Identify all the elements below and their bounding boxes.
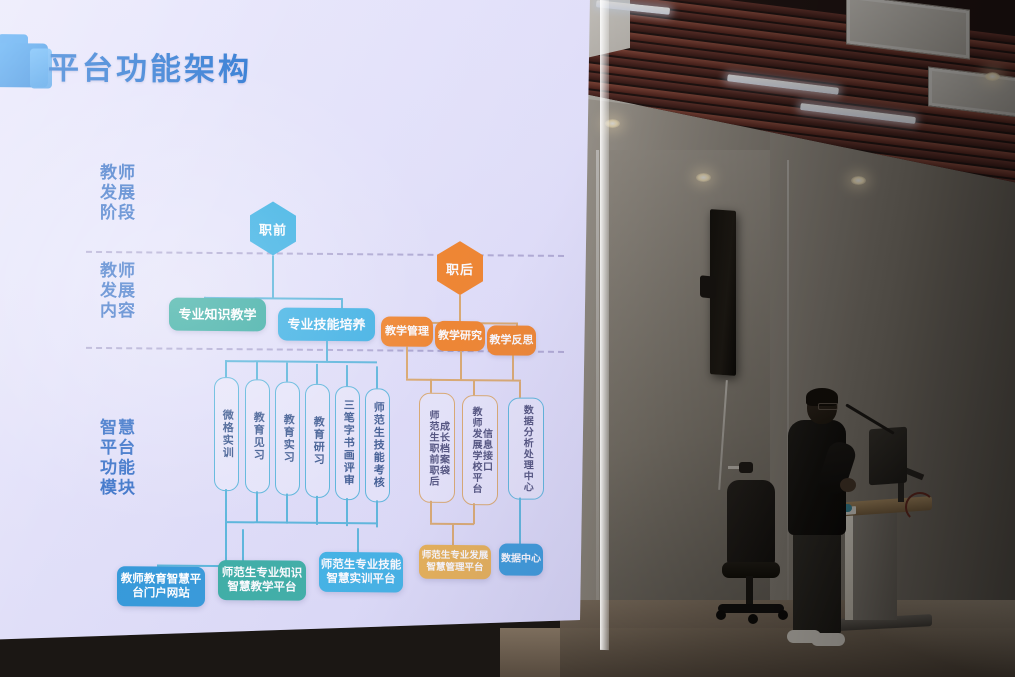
connector <box>256 491 258 522</box>
chair-caster <box>716 610 726 620</box>
module-box[interactable]: 数据分析处理中心 <box>508 397 544 499</box>
connector <box>430 379 432 393</box>
connector <box>519 498 521 548</box>
platform-label: 师范生专业知识智慧教学平台 <box>218 566 306 595</box>
row-label-line: 平台 <box>92 438 144 458</box>
module-box[interactable]: 教师发展学校平台 信息接口 <box>462 395 498 505</box>
row-label-line: 阶段 <box>92 203 144 223</box>
downlight-icon <box>851 176 866 185</box>
module-box[interactable]: 微格实训 <box>214 377 239 491</box>
presenter-legs <box>793 530 841 635</box>
connector <box>225 489 227 521</box>
connector <box>512 356 514 382</box>
slide-surface: 平台功能架构 教师 发展 阶段 教师 发展 内容 智慧 平台 功能 模块 <box>0 0 622 657</box>
row-label-modules: 智慧 平台 功能 模块 <box>92 418 144 499</box>
connector <box>225 360 227 377</box>
page-title: 平台功能架构 <box>48 43 252 90</box>
monitor-icon <box>869 427 907 486</box>
row-label-line: 模块 <box>92 478 144 498</box>
connector <box>272 255 274 297</box>
connector <box>430 501 432 523</box>
power-cord <box>905 492 935 522</box>
connector <box>459 295 461 322</box>
row-label-stage: 教师 发展 阶段 <box>92 163 144 224</box>
row-label-line: 智慧 <box>92 418 144 438</box>
platform-box-training[interactable]: 师范生专业技能智慧实训平台 <box>319 552 403 593</box>
platform-label: 师范生专业发展智慧管理平台 <box>419 550 491 574</box>
connector <box>225 521 227 565</box>
projection-screen: 平台功能架构 教师 发展 阶段 教师 发展 内容 智慧 平台 功能 模块 <box>0 0 612 652</box>
lectern-column <box>853 512 897 620</box>
connector <box>316 364 318 384</box>
connector <box>473 380 475 395</box>
module-label: 三笔字书画评审 <box>342 399 354 487</box>
chair-base <box>718 604 784 613</box>
downlight-icon <box>696 173 711 182</box>
chair-caster <box>748 614 758 624</box>
stage-node-preservice[interactable]: 职前 <box>250 201 296 255</box>
module-label: 教师发展学校平台 <box>470 406 481 494</box>
lecture-room-photo: 平台功能架构 教师 发展 阶段 教师 发展 内容 智慧 平台 功能 模块 <box>0 0 1015 677</box>
module-box[interactable]: 师范生技能考核 <box>365 388 390 502</box>
connector <box>473 503 475 524</box>
speaker-mount <box>700 275 716 299</box>
module-box[interactable]: 三笔字书画评审 <box>335 386 360 500</box>
module-label: 教育实习 <box>282 414 294 464</box>
row-label-line: 功能 <box>92 458 144 478</box>
connector <box>376 500 378 527</box>
module-label: 微格实训 <box>221 409 233 459</box>
connector <box>286 363 288 382</box>
connector <box>225 521 377 524</box>
presenter-hand <box>840 478 856 492</box>
platform-box-portal[interactable]: 教师教育智慧平台门户网站 <box>117 566 205 607</box>
platform-label: 教师教育智慧平台门户网站 <box>117 572 205 601</box>
module-label: 教育见习 <box>252 411 264 461</box>
module-box[interactable]: 教育研习 <box>305 384 330 498</box>
connector <box>376 366 378 388</box>
connector <box>256 361 258 379</box>
connector <box>406 379 521 382</box>
module-label: 数据分析处理中心 <box>521 405 532 493</box>
content-box-skills[interactable]: 专业技能培养 <box>278 308 375 342</box>
content-box-teaching-reflection[interactable]: 教学反思 <box>487 325 536 355</box>
connector <box>242 529 244 561</box>
row-label-content: 教师 发展 内容 <box>92 261 144 322</box>
module-box[interactable]: 师范生职前职后 成长档案袋 <box>419 393 455 503</box>
connector <box>346 498 348 526</box>
connector <box>286 494 288 524</box>
connector <box>346 365 348 386</box>
platform-label: 师范生专业技能智慧实训平台 <box>319 557 403 586</box>
glasses-icon <box>818 403 838 410</box>
platform-box-data-center[interactable]: 数据中心 <box>499 543 543 575</box>
connector <box>460 351 462 380</box>
content-box-teaching-research[interactable]: 教学研究 <box>435 321 485 351</box>
module-box[interactable]: 教育实习 <box>275 381 300 495</box>
connector <box>316 496 318 525</box>
module-label: 教育研习 <box>312 416 324 466</box>
wall-camera-icon <box>739 462 753 473</box>
row-label-line: 教师 <box>92 163 144 183</box>
module-box[interactable]: 教育见习 <box>245 379 270 493</box>
connector <box>225 360 377 363</box>
row-label-line: 教师 <box>92 261 144 281</box>
platform-label: 数据中心 <box>501 553 541 566</box>
connector <box>326 341 328 361</box>
divider-stage-content <box>86 251 564 257</box>
wall-corner <box>596 150 599 620</box>
presenter-icon <box>785 390 849 640</box>
row-label-line: 内容 <box>92 301 144 321</box>
connector <box>406 347 408 379</box>
floor-reflection <box>880 600 1015 677</box>
module-label-2: 成长档案袋 <box>437 420 448 475</box>
module-label-2: 信息接口 <box>480 428 491 472</box>
module-label: 师范生技能考核 <box>372 402 384 490</box>
module-label: 师范生职前职后 <box>427 409 438 486</box>
content-box-teaching-mgmt[interactable]: 教学管理 <box>381 316 433 346</box>
office-chair-icon <box>727 480 775 568</box>
folder-logo-icon <box>0 34 52 89</box>
presenter-shoe <box>811 633 845 646</box>
connector <box>519 382 521 398</box>
row-label-line: 发展 <box>92 281 144 301</box>
screen-edge-light <box>600 0 609 650</box>
stage-node-inservice[interactable]: 职后 <box>437 241 483 295</box>
downlight-icon <box>985 72 1000 81</box>
platform-box-management[interactable]: 师范生专业发展智慧管理平台 <box>419 545 491 580</box>
platform-box-teaching[interactable]: 师范生专业知识智慧教学平台 <box>218 560 306 601</box>
row-label-line: 发展 <box>92 183 144 203</box>
content-box-knowledge[interactable]: 专业知识教学 <box>169 298 266 332</box>
